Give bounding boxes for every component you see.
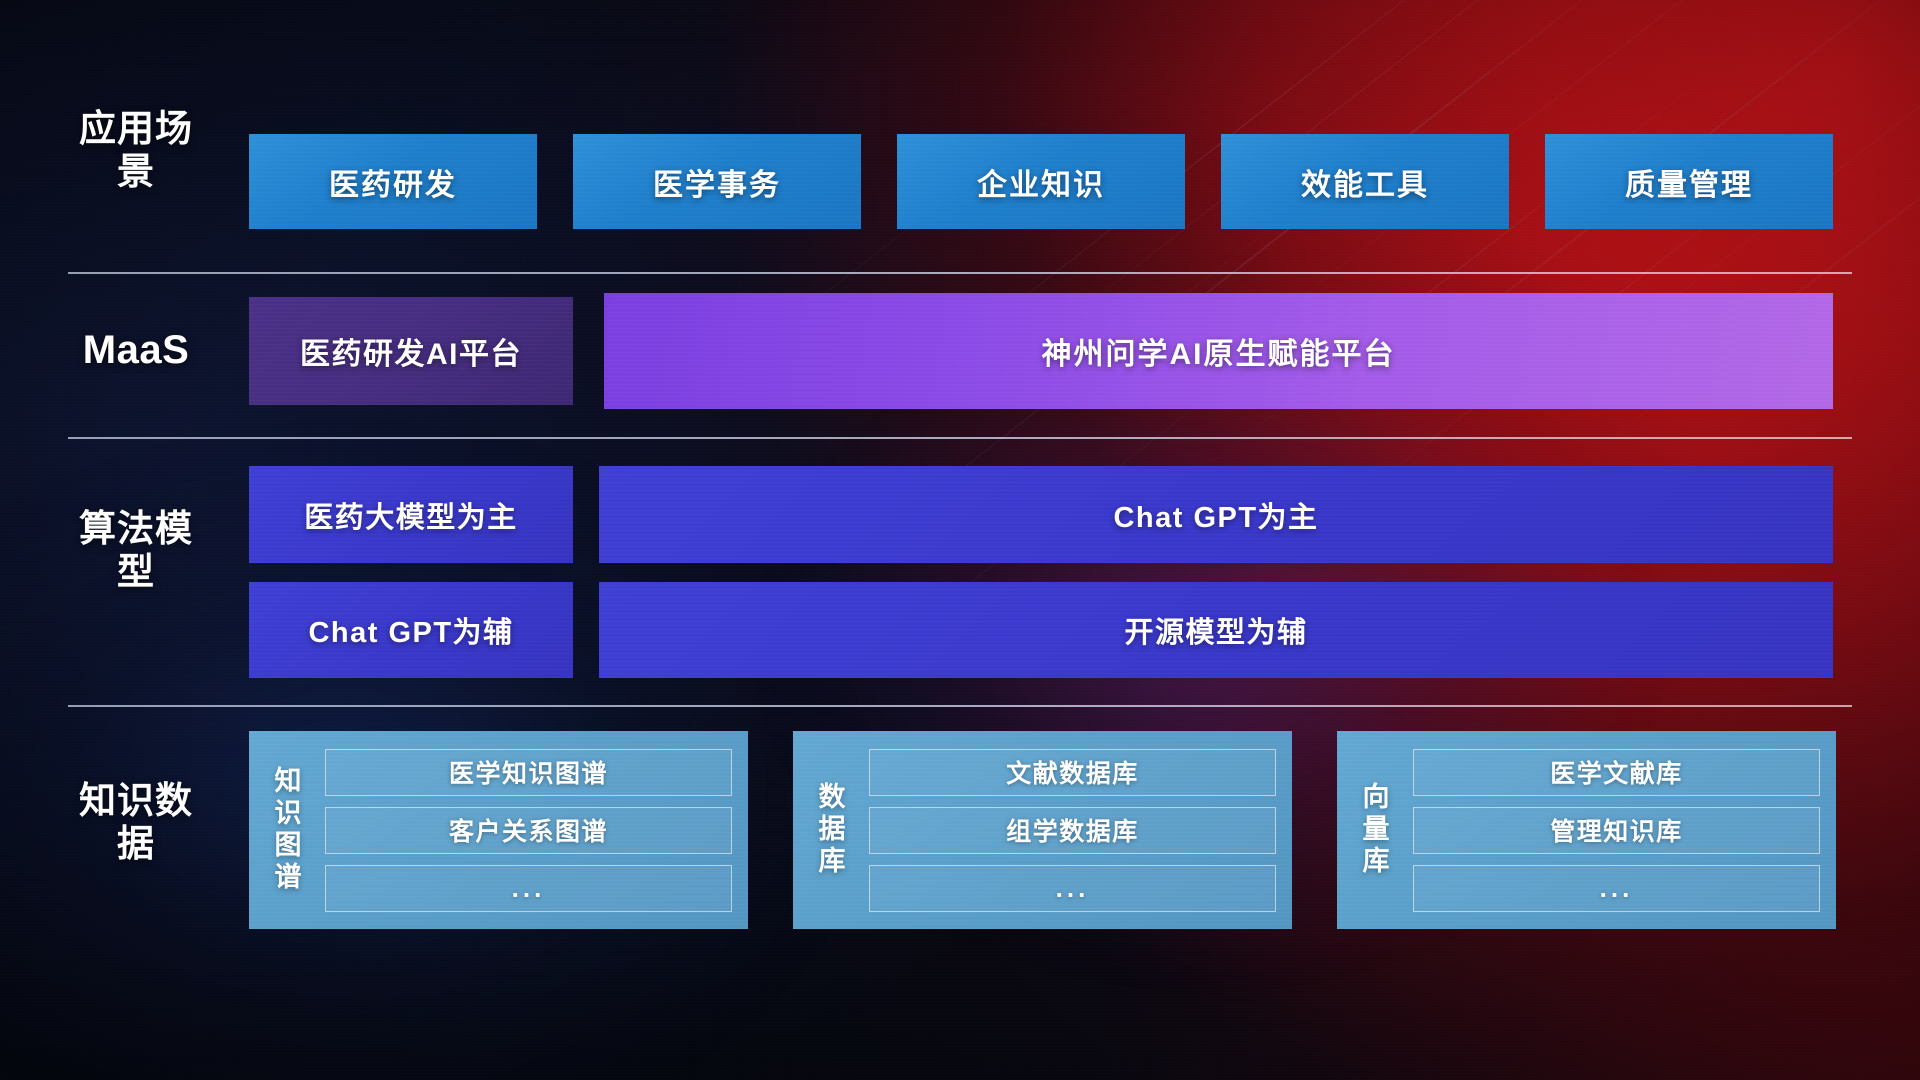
row-label-maas: MaaS — [75, 327, 197, 373]
knowledge-panel-vector-store[interactable]: 向量库 医学文献库 管理知识库 ... 向量库 — [1337, 731, 1836, 929]
knowledge-panel-items-knowledge-graph: 医学知识图谱 客户关系图谱 ... — [321, 731, 748, 929]
divider-application-maas — [68, 272, 1852, 274]
knowledge-item-more-knowledge-graph[interactable]: ... — [325, 865, 732, 912]
knowledge-panel-title-vector-store: 向量库 — [1337, 731, 1409, 929]
knowledge-item-medical-literature-store[interactable]: 医学文献库 — [1413, 749, 1820, 796]
algorithm-box-chatgpt-secondary[interactable]: Chat GPT为辅 — [249, 582, 573, 678]
row-label-application: 应用场景 — [75, 108, 197, 194]
maas-box-shenzhou-wenxue-platform[interactable]: 神州问学AI原生赋能平台 — [604, 293, 1833, 409]
application-box-medical-rd[interactable]: 医药研发 — [249, 134, 537, 229]
divider-algorithm-knowledge — [68, 705, 1852, 707]
knowledge-item-medical-knowledge-graph[interactable]: 医学知识图谱 — [325, 749, 732, 796]
application-box-efficiency-tools[interactable]: 效能工具 — [1221, 134, 1509, 229]
row-label-algorithm: 算法模型 — [75, 508, 197, 594]
knowledge-item-customer-relation-graph[interactable]: 客户关系图谱 — [325, 807, 732, 854]
application-box-medical-affairs[interactable]: 医学事务 — [573, 134, 861, 229]
row-label-knowledge: 知识数据 — [75, 780, 197, 866]
algorithm-box-opensource-secondary[interactable]: 开源模型为辅 — [599, 582, 1833, 678]
application-box-quality-management[interactable]: 质量管理 — [1545, 134, 1833, 229]
knowledge-panel-items-database: 文献数据库 组学数据库 ... — [865, 731, 1292, 929]
divider-maas-algorithm — [68, 437, 1852, 439]
algorithm-box-chatgpt-primary[interactable]: Chat GPT为主 — [599, 466, 1833, 563]
knowledge-item-management-knowledge-store[interactable]: 管理知识库 — [1413, 807, 1820, 854]
knowledge-panel-title-knowledge-graph: 知识图谱 — [249, 731, 321, 929]
architecture-diagram: 应用场景 MaaS 算法模型 知识数据 医药研发 医学事务 企业知识 效能工具 … — [0, 0, 1920, 1080]
knowledge-item-more-database[interactable]: ... — [869, 865, 1276, 912]
algorithm-box-medical-llm-primary[interactable]: 医药大模型为主 — [249, 466, 573, 563]
knowledge-panel-title-database: 数据库 — [793, 731, 865, 929]
knowledge-panel-database[interactable]: 数据库 文献数据库 组学数据库 ... — [793, 731, 1292, 929]
application-box-enterprise-knowledge[interactable]: 企业知识 — [897, 134, 1185, 229]
maas-box-medical-rd-ai-platform[interactable]: 医药研发AI平台 — [249, 297, 573, 405]
knowledge-panel-knowledge-graph[interactable]: 知识图谱 医学知识图谱 客户关系图谱 ... — [249, 731, 748, 929]
knowledge-panel-items-vector-store: 医学文献库 管理知识库 ... — [1409, 731, 1836, 929]
knowledge-item-omics-database[interactable]: 组学数据库 — [869, 807, 1276, 854]
knowledge-item-literature-database[interactable]: 文献数据库 — [869, 749, 1276, 796]
knowledge-item-more-vector-store[interactable]: ... — [1413, 865, 1820, 912]
